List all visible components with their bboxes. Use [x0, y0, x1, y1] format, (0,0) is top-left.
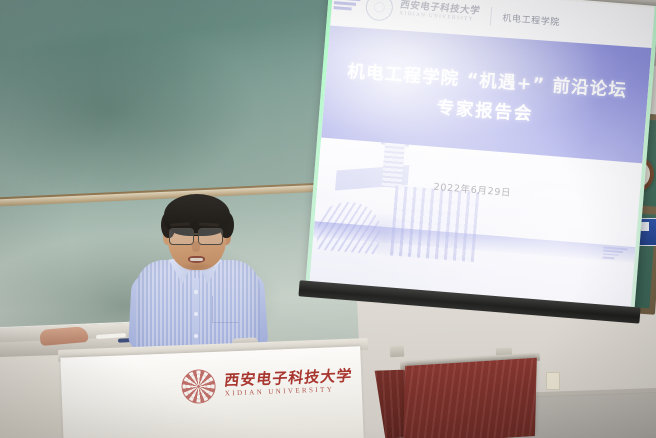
slide-footer-stripes: [602, 246, 629, 262]
eyeglasses-icon: [169, 228, 194, 245]
eyeglasses-bridge: [191, 233, 199, 235]
wooden-table: [403, 358, 537, 438]
department-name: 机电工程学院: [502, 10, 560, 28]
podium-name-block: 西安电子科技大学 XIDIAN UNIVERSITY: [224, 368, 353, 399]
header-divider: [490, 6, 493, 25]
wall-sign-glyph: [641, 222, 649, 231]
podium-side-panel: [0, 355, 69, 438]
slide-body: 2022年6月29日: [310, 138, 643, 309]
wall-switch-plate: [546, 372, 560, 390]
university-seal-icon: [181, 369, 216, 404]
speaker-chin-shadow: [178, 262, 216, 272]
slide-title-line-2: 专家报告会: [436, 94, 534, 126]
speaker-teeth: [190, 258, 203, 262]
lecture-hall-photo: 西安电子科技大学 XIDIAN UNIVERSITY 机电工程学院 机电工程学院…: [0, 0, 656, 438]
projection-screen-icon: 西安电子科技大学 XIDIAN UNIVERSITY 机电工程学院 机电工程学院…: [299, 0, 652, 337]
podium-logo: 西安电子科技大学 XIDIAN UNIVERSITY: [181, 360, 357, 407]
speaker-shirt-pocket: [212, 296, 239, 323]
building-tower: [381, 141, 405, 188]
university-seal-icon: [365, 0, 394, 21]
shirt-button: [194, 290, 198, 294]
slide-title-line-1: 机电工程学院 “机遇+” 前沿论坛: [347, 57, 629, 101]
table-grain: [403, 358, 537, 438]
podium: 西安电子科技大学 XIDIAN UNIVERSITY: [60, 346, 363, 438]
speaker-nose: [192, 241, 200, 252]
university-name-block: 西安电子科技大学 XIDIAN UNIVERSITY: [399, 0, 480, 23]
chalkboard-sheen: [0, 0, 338, 198]
wall-fixture-left: [390, 346, 405, 358]
shirt-button: [194, 312, 198, 316]
projected-slide: 西安电子科技大学 XIDIAN UNIVERSITY 机电工程学院 机电工程学院…: [310, 0, 655, 309]
shirt-button: [194, 334, 198, 338]
eyeglasses-lens-right: [198, 228, 223, 245]
